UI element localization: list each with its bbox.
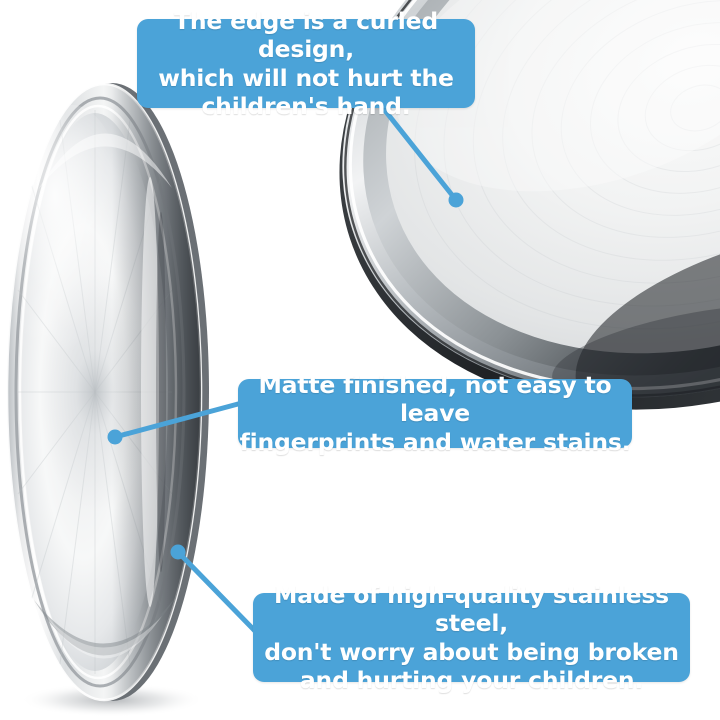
anchor-dot-edge <box>449 193 464 208</box>
callout-bubble-steel: Made of high-quality stainless steel, do… <box>253 593 690 682</box>
leader-line-edge <box>383 108 456 200</box>
leader-line-steel <box>178 552 255 631</box>
callout-text-steel: Made of high-quality stainless steel, do… <box>253 581 690 694</box>
leader-line-matte <box>115 404 238 437</box>
infographic-canvas: The edge is a curled design, which will … <box>0 0 720 720</box>
callout-bubble-matte: Matte finished, not easy to leave finger… <box>238 379 632 448</box>
callout-text-edge: The edge is a curled design, which will … <box>137 7 475 120</box>
anchor-dot-steel <box>171 545 186 560</box>
anchor-dot-matte <box>108 430 123 445</box>
callout-bubble-edge: The edge is a curled design, which will … <box>137 19 475 108</box>
callout-text-matte: Matte finished, not easy to leave finger… <box>238 371 632 457</box>
